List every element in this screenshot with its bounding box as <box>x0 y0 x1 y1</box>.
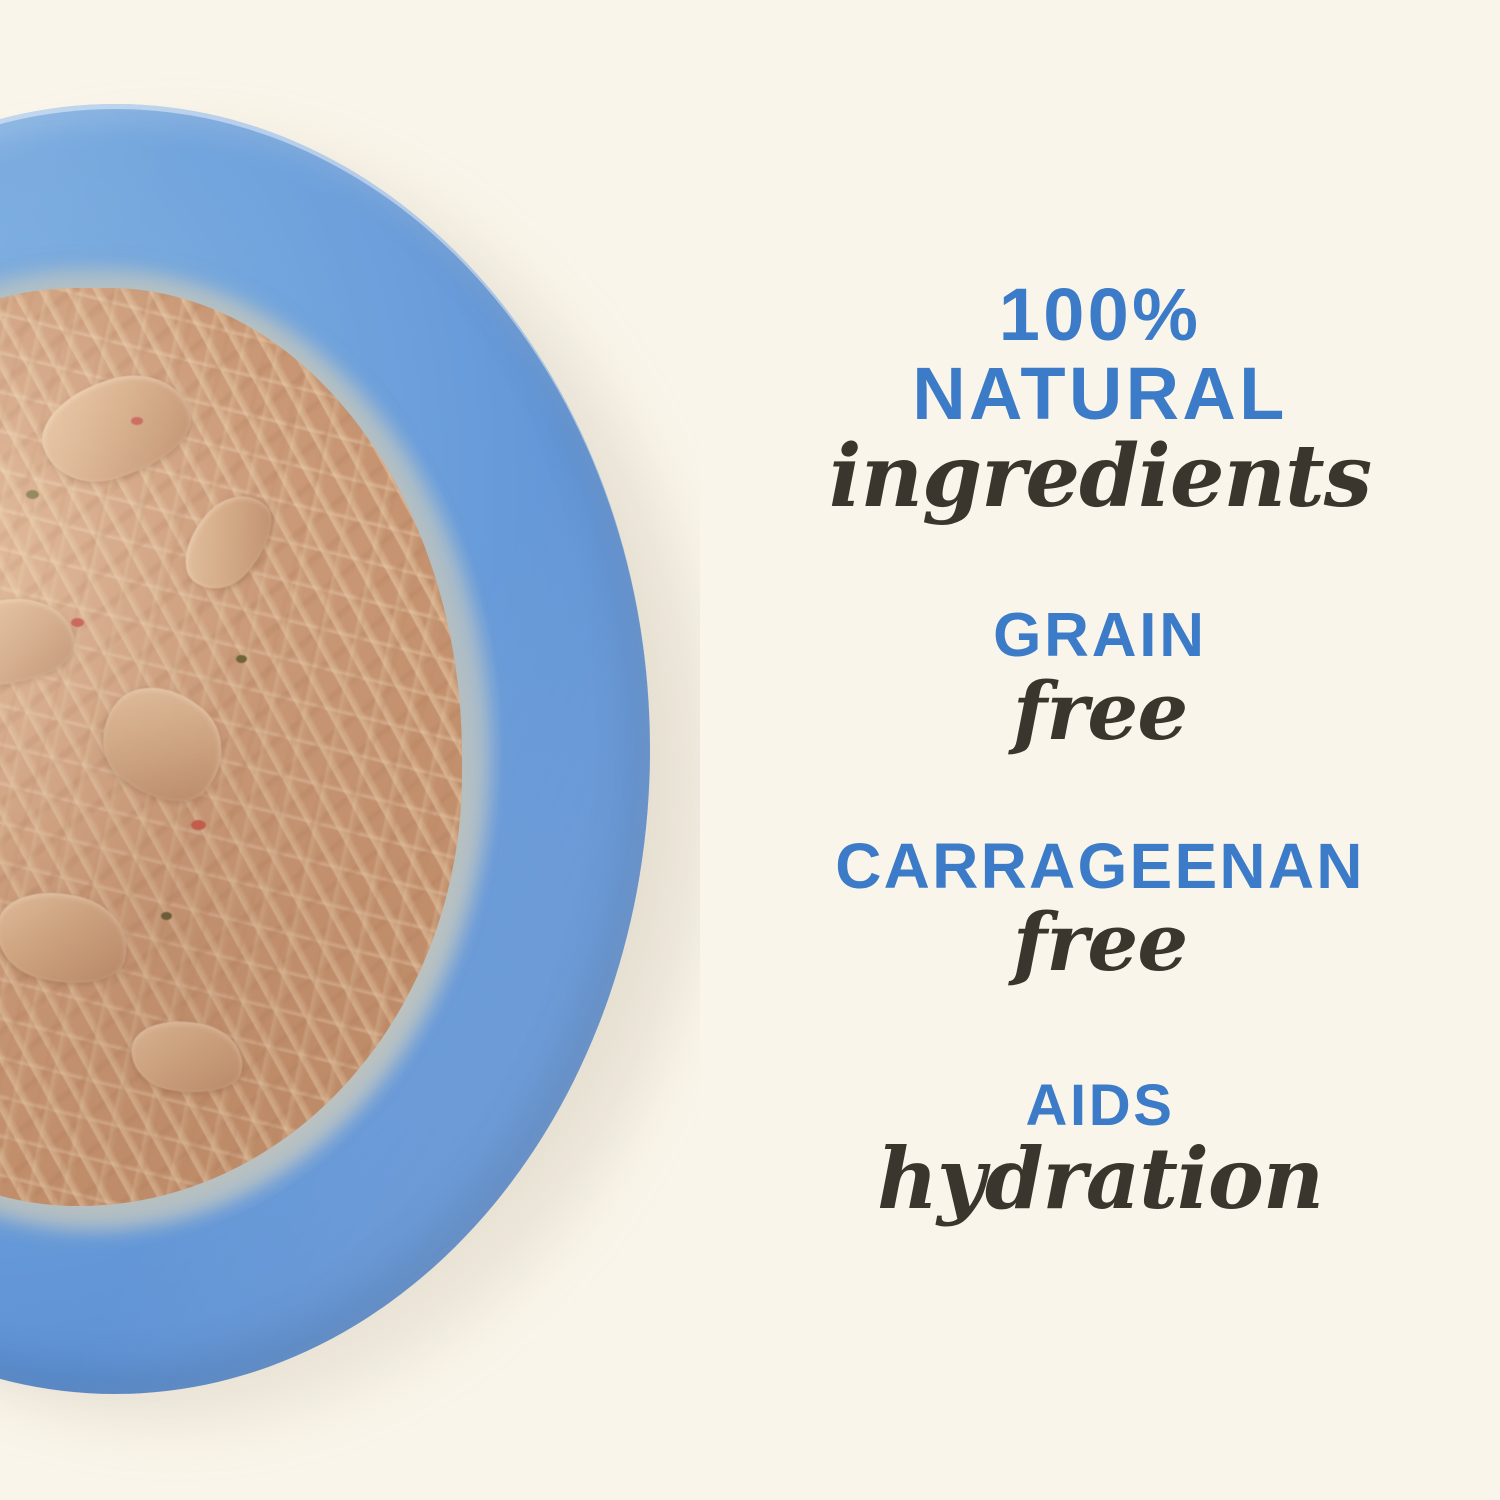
benefit-aids-hydration: AIDS hydration <box>700 1078 1500 1221</box>
benefit-script-line: hydration <box>700 1137 1500 1221</box>
benefit-caps-line: NATURAL <box>700 358 1500 431</box>
benefits-list: 100% NATURAL ingredients GRAIN free CARR… <box>700 0 1500 1500</box>
benefit-script-line: ingredients <box>700 434 1500 520</box>
shredded-food-mound <box>0 288 462 1206</box>
benefit-caps-line: AIDS <box>700 1078 1500 1135</box>
red-fleck <box>131 417 143 425</box>
benefit-natural-ingredients: 100% NATURAL ingredients <box>700 279 1500 520</box>
food-photo <box>0 0 700 1500</box>
benefit-caps-line: 100% <box>700 279 1500 352</box>
benefit-caps-line: GRAIN <box>700 606 1500 667</box>
benefit-carrageenan-free: CARRAGEENAN free <box>700 835 1500 982</box>
benefit-script-line: free <box>700 902 1500 982</box>
product-benefits-panel: 100% NATURAL ingredients GRAIN free CARR… <box>0 0 1500 1500</box>
benefit-caps-line: CARRAGEENAN <box>700 835 1500 898</box>
benefit-script-line: free <box>700 671 1500 751</box>
benefit-grain-free: GRAIN free <box>700 606 1500 751</box>
herb-fleck <box>26 490 39 499</box>
